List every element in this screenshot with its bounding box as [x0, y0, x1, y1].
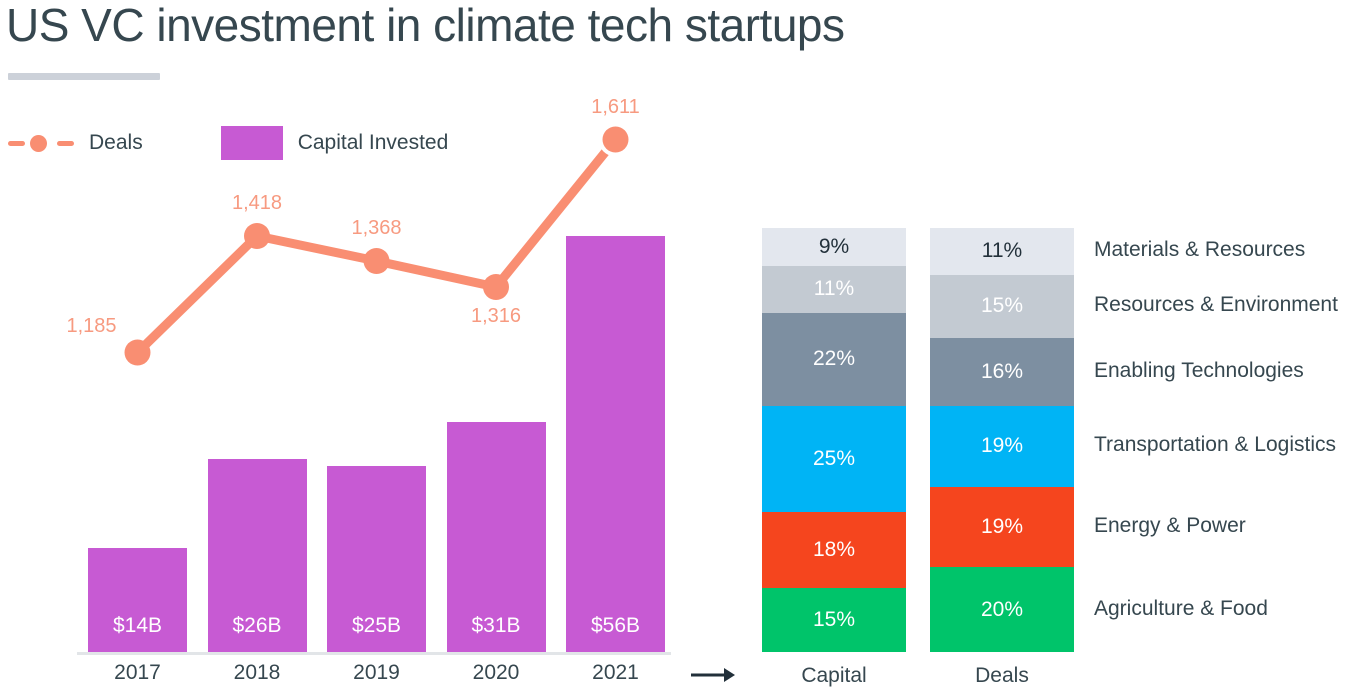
bar-value-label: $25B	[327, 614, 426, 638]
bar-value-label: $56B	[566, 614, 665, 638]
bar-2017[interactable]: $14B	[88, 548, 187, 652]
x-tick-2019: 2019	[327, 661, 426, 685]
x-tick-2021: 2021	[566, 661, 665, 685]
stack-segment-energy-power[interactable]: 19%	[930, 487, 1074, 568]
bar-2020[interactable]: $31B	[447, 422, 546, 652]
x-tick-2017: 2017	[88, 661, 187, 685]
chart-canvas: US VC investment in climate tech startup…	[0, 0, 1364, 690]
stack-segment-resources-environment[interactable]: 15%	[930, 275, 1074, 339]
right-arrow-icon	[690, 665, 736, 685]
deal-value-label: 1,185	[42, 315, 142, 338]
stack-segment-resources-environment[interactable]: 11%	[762, 266, 906, 313]
combo-chart: $14B$26B$25B$31B$56B 1,1851,4181,3681,31…	[0, 0, 700, 690]
deal-value-label: 1,316	[446, 305, 546, 328]
category-label-resources-environment: Resources & Environment	[1094, 293, 1338, 317]
stack-segment-transportation-logistics[interactable]: 25%	[762, 406, 906, 512]
bar-value-label: $31B	[447, 614, 546, 638]
deal-value-label: 1,418	[207, 192, 307, 215]
stack-caption-deals: Deals	[930, 664, 1074, 688]
stack-segment-agriculture-food[interactable]: 15%	[762, 588, 906, 652]
deal-point-2019[interactable]	[364, 248, 390, 274]
bar-2021[interactable]: $56B	[566, 236, 665, 652]
stacked-bar-deals: 11%15%16%19%19%20%	[930, 228, 1074, 652]
bar-value-label: $14B	[88, 614, 187, 638]
bar-2019[interactable]: $25B	[327, 466, 426, 652]
x-tick-2018: 2018	[208, 661, 307, 685]
x-tick-2020: 2020	[447, 661, 546, 685]
deal-value-label: 1,611	[566, 96, 666, 119]
bar-2018[interactable]: $26B	[208, 459, 307, 652]
stack-segment-materials-resources[interactable]: 11%	[930, 228, 1074, 275]
stack-segment-energy-power[interactable]: 18%	[762, 512, 906, 588]
stack-segment-enabling-technologies[interactable]: 22%	[762, 313, 906, 406]
deal-point-2017[interactable]	[125, 340, 151, 366]
stack-caption-capital: Capital	[762, 664, 906, 688]
stack-segment-enabling-technologies[interactable]: 16%	[930, 338, 1074, 406]
bar-value-label: $26B	[208, 614, 307, 638]
deal-value-label: 1,368	[327, 217, 427, 240]
stack-segment-transportation-logistics[interactable]: 19%	[930, 406, 1074, 487]
category-label-materials-resources: Materials & Resources	[1094, 238, 1305, 262]
deal-point-2020[interactable]	[483, 274, 509, 300]
stack-segment-materials-resources[interactable]: 9%	[762, 228, 906, 266]
category-label-energy-power: Energy & Power	[1094, 514, 1246, 538]
stack-segment-agriculture-food[interactable]: 20%	[930, 567, 1074, 652]
deal-point-2018[interactable]	[244, 223, 270, 249]
deal-point-2021[interactable]	[603, 127, 629, 153]
category-label-agriculture-food: Agriculture & Food	[1094, 597, 1268, 621]
category-label-transportation-logistics: Transportation & Logistics	[1094, 433, 1336, 457]
stacked-bar-capital: 9%11%22%25%18%15%	[762, 228, 906, 652]
x-axis-line	[77, 652, 671, 655]
category-label-enabling-technologies: Enabling Technologies	[1094, 359, 1304, 383]
